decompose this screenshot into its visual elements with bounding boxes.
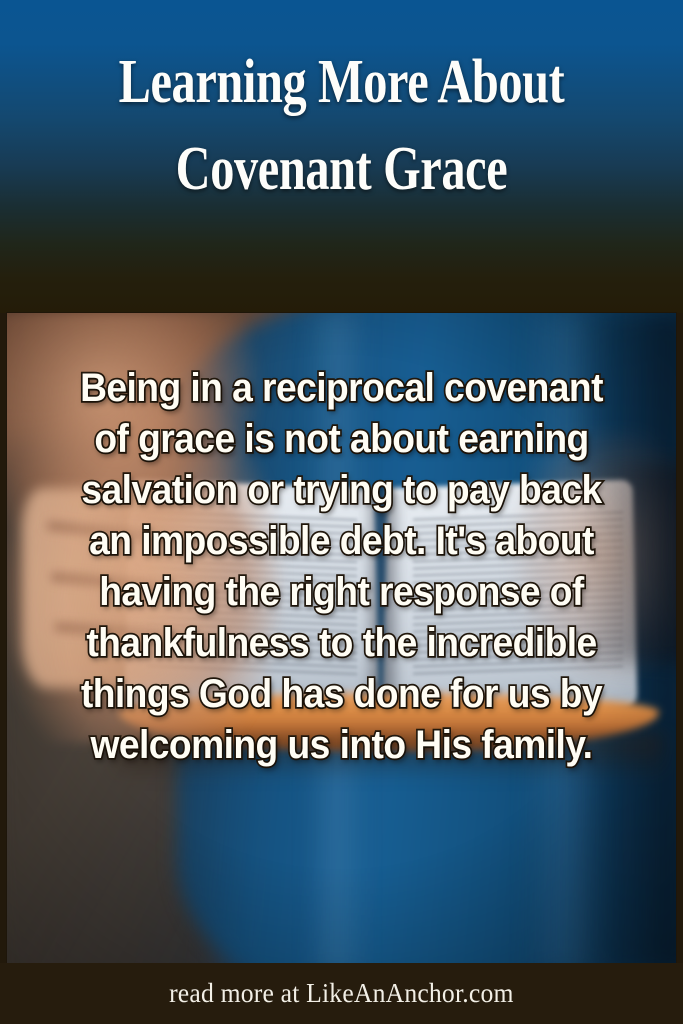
quote-line: Being in a reciprocal covenant bbox=[38, 363, 645, 414]
quote-overlay: Being in a reciprocal covenant of grace … bbox=[7, 363, 676, 771]
photo-panel: Being in a reciprocal covenant of grace … bbox=[7, 313, 676, 963]
pinterest-pin-graphic: Learning More About Covenant Grace bbox=[0, 0, 683, 1024]
footer-bar: read more at LikeAnAnchor.com bbox=[0, 963, 683, 1024]
title-line-1: Learning More About bbox=[75, 52, 608, 113]
quote-line: having the right response of bbox=[38, 567, 645, 618]
quote-line: salvation or trying to pay back bbox=[38, 465, 645, 516]
header-banner: Learning More About Covenant Grace bbox=[0, 0, 683, 313]
quote-line: an impossible debt. It's about bbox=[38, 516, 645, 567]
quote-line: welcoming us into His family. bbox=[38, 720, 645, 771]
page-title: Learning More About Covenant Grace bbox=[0, 52, 683, 200]
footer-attribution-link[interactable]: read more at LikeAnAnchor.com bbox=[169, 978, 514, 1009]
quote-line: things God has done for us by bbox=[38, 669, 645, 720]
quote-line: thankfulness to the incredible bbox=[38, 618, 645, 669]
quote-line: of grace is not about earning bbox=[38, 414, 645, 465]
title-line-2: Covenant Grace bbox=[75, 139, 608, 200]
